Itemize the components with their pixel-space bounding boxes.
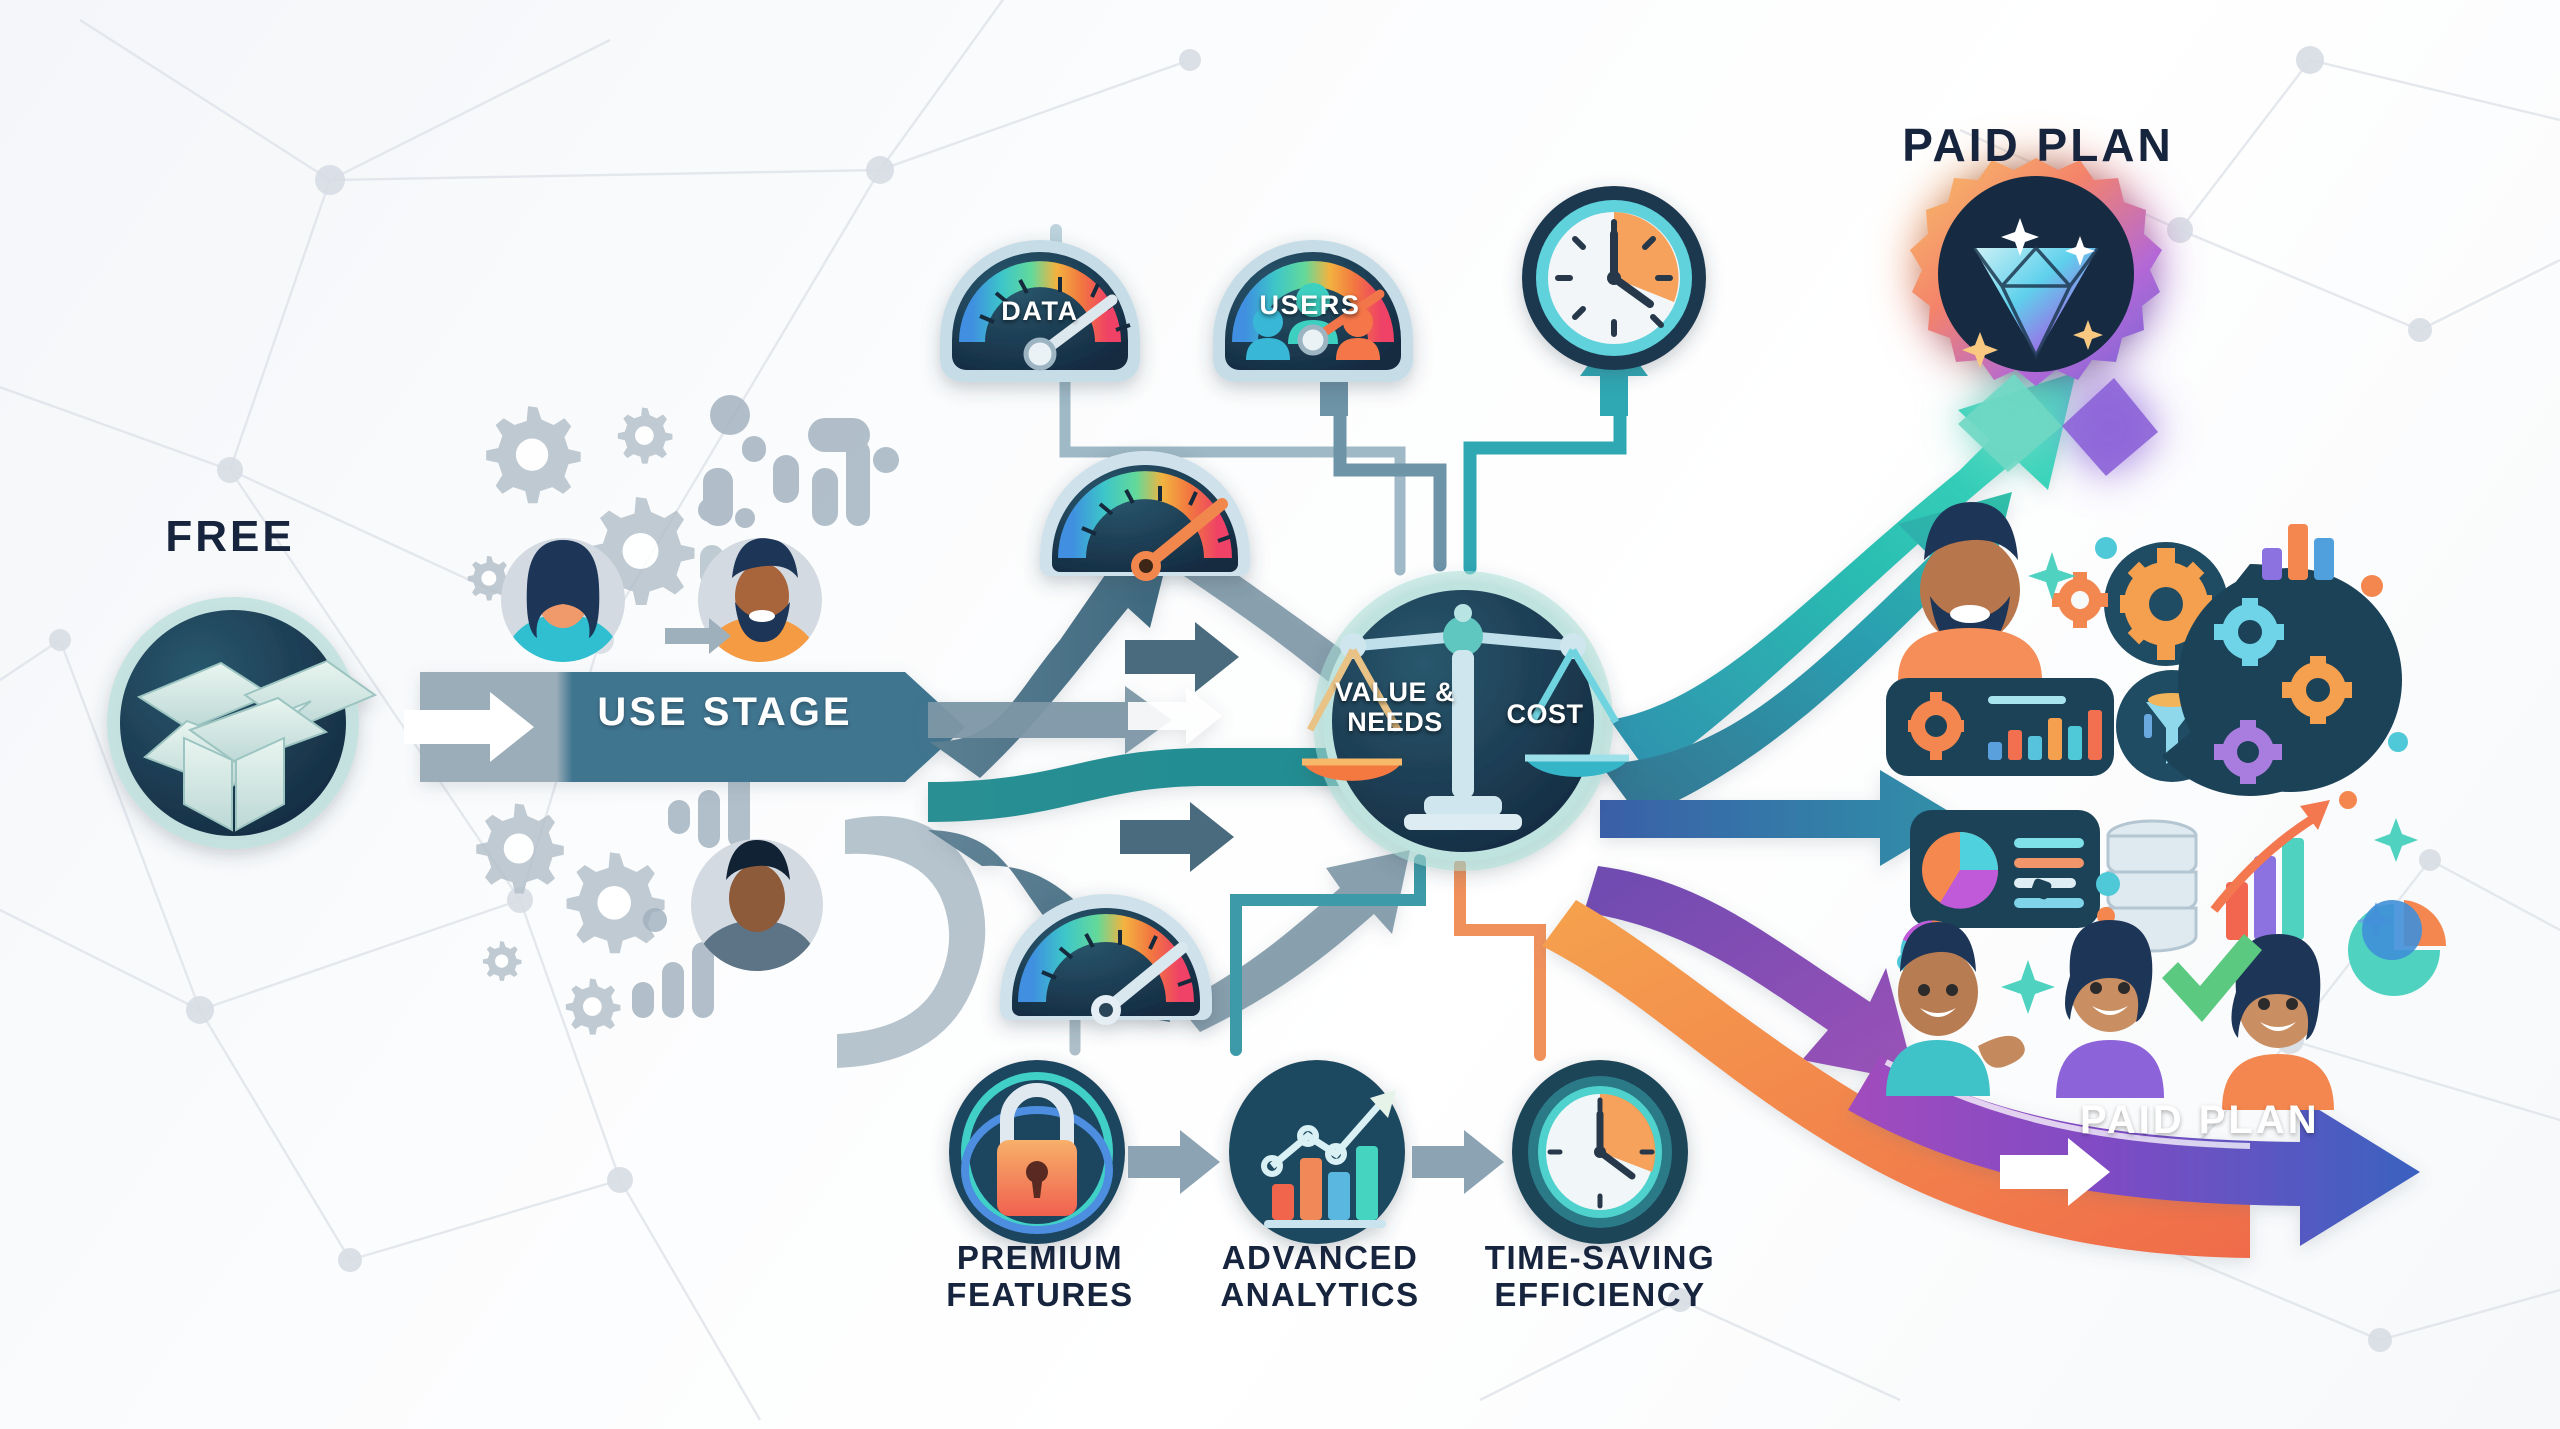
people-group-icon xyxy=(1886,920,2334,1110)
growth-chart-right-icon xyxy=(2214,800,2330,940)
data-badge-label: DATA xyxy=(940,296,1140,327)
half-gauge-lower xyxy=(1000,894,1212,1025)
premium-features-icon xyxy=(949,1060,1125,1244)
advanced-analytics-icon xyxy=(1229,1060,1405,1244)
time-saving-label: TIME-SAVING EFFICIENCY xyxy=(1455,1240,1745,1314)
scale-value-needs-label: VALUE & NEEDS xyxy=(1300,678,1490,737)
avatar-right-main xyxy=(1898,502,2042,680)
free-plan-label: FREE xyxy=(120,512,340,561)
bar-chart-small-icon xyxy=(2262,524,2334,580)
right-benefit-cluster xyxy=(1886,502,2446,1110)
users-badge-label: USERS xyxy=(1210,290,1410,321)
pie-card-icon xyxy=(1910,810,2100,928)
infographic-canvas: FREE PAID PLAN USE STAGE PAID PLAN DATA … xyxy=(0,0,2560,1429)
half-gauge-upper xyxy=(1040,451,1250,581)
scale-cost-label: COST xyxy=(1470,700,1620,730)
icon-nodes xyxy=(0,0,2560,1429)
use-stage-label: USE STAGE xyxy=(545,690,905,735)
advanced-analytics-label: ADVANCED ANALYTICS xyxy=(1185,1240,1455,1314)
paid-plan-arrow-label: PAID PLAN xyxy=(2080,1098,2370,1143)
time-saving-icon xyxy=(1512,1060,1688,1244)
paid-plan-badge xyxy=(1910,158,2162,476)
clock-badge-top xyxy=(1522,186,1706,370)
dashboard-card-icon xyxy=(1886,678,2114,776)
premium-features-label: PREMIUM FEATURES xyxy=(905,1240,1175,1314)
paid-plan-title: PAID PLAN xyxy=(1828,120,2248,172)
free-plan-node xyxy=(107,597,375,849)
